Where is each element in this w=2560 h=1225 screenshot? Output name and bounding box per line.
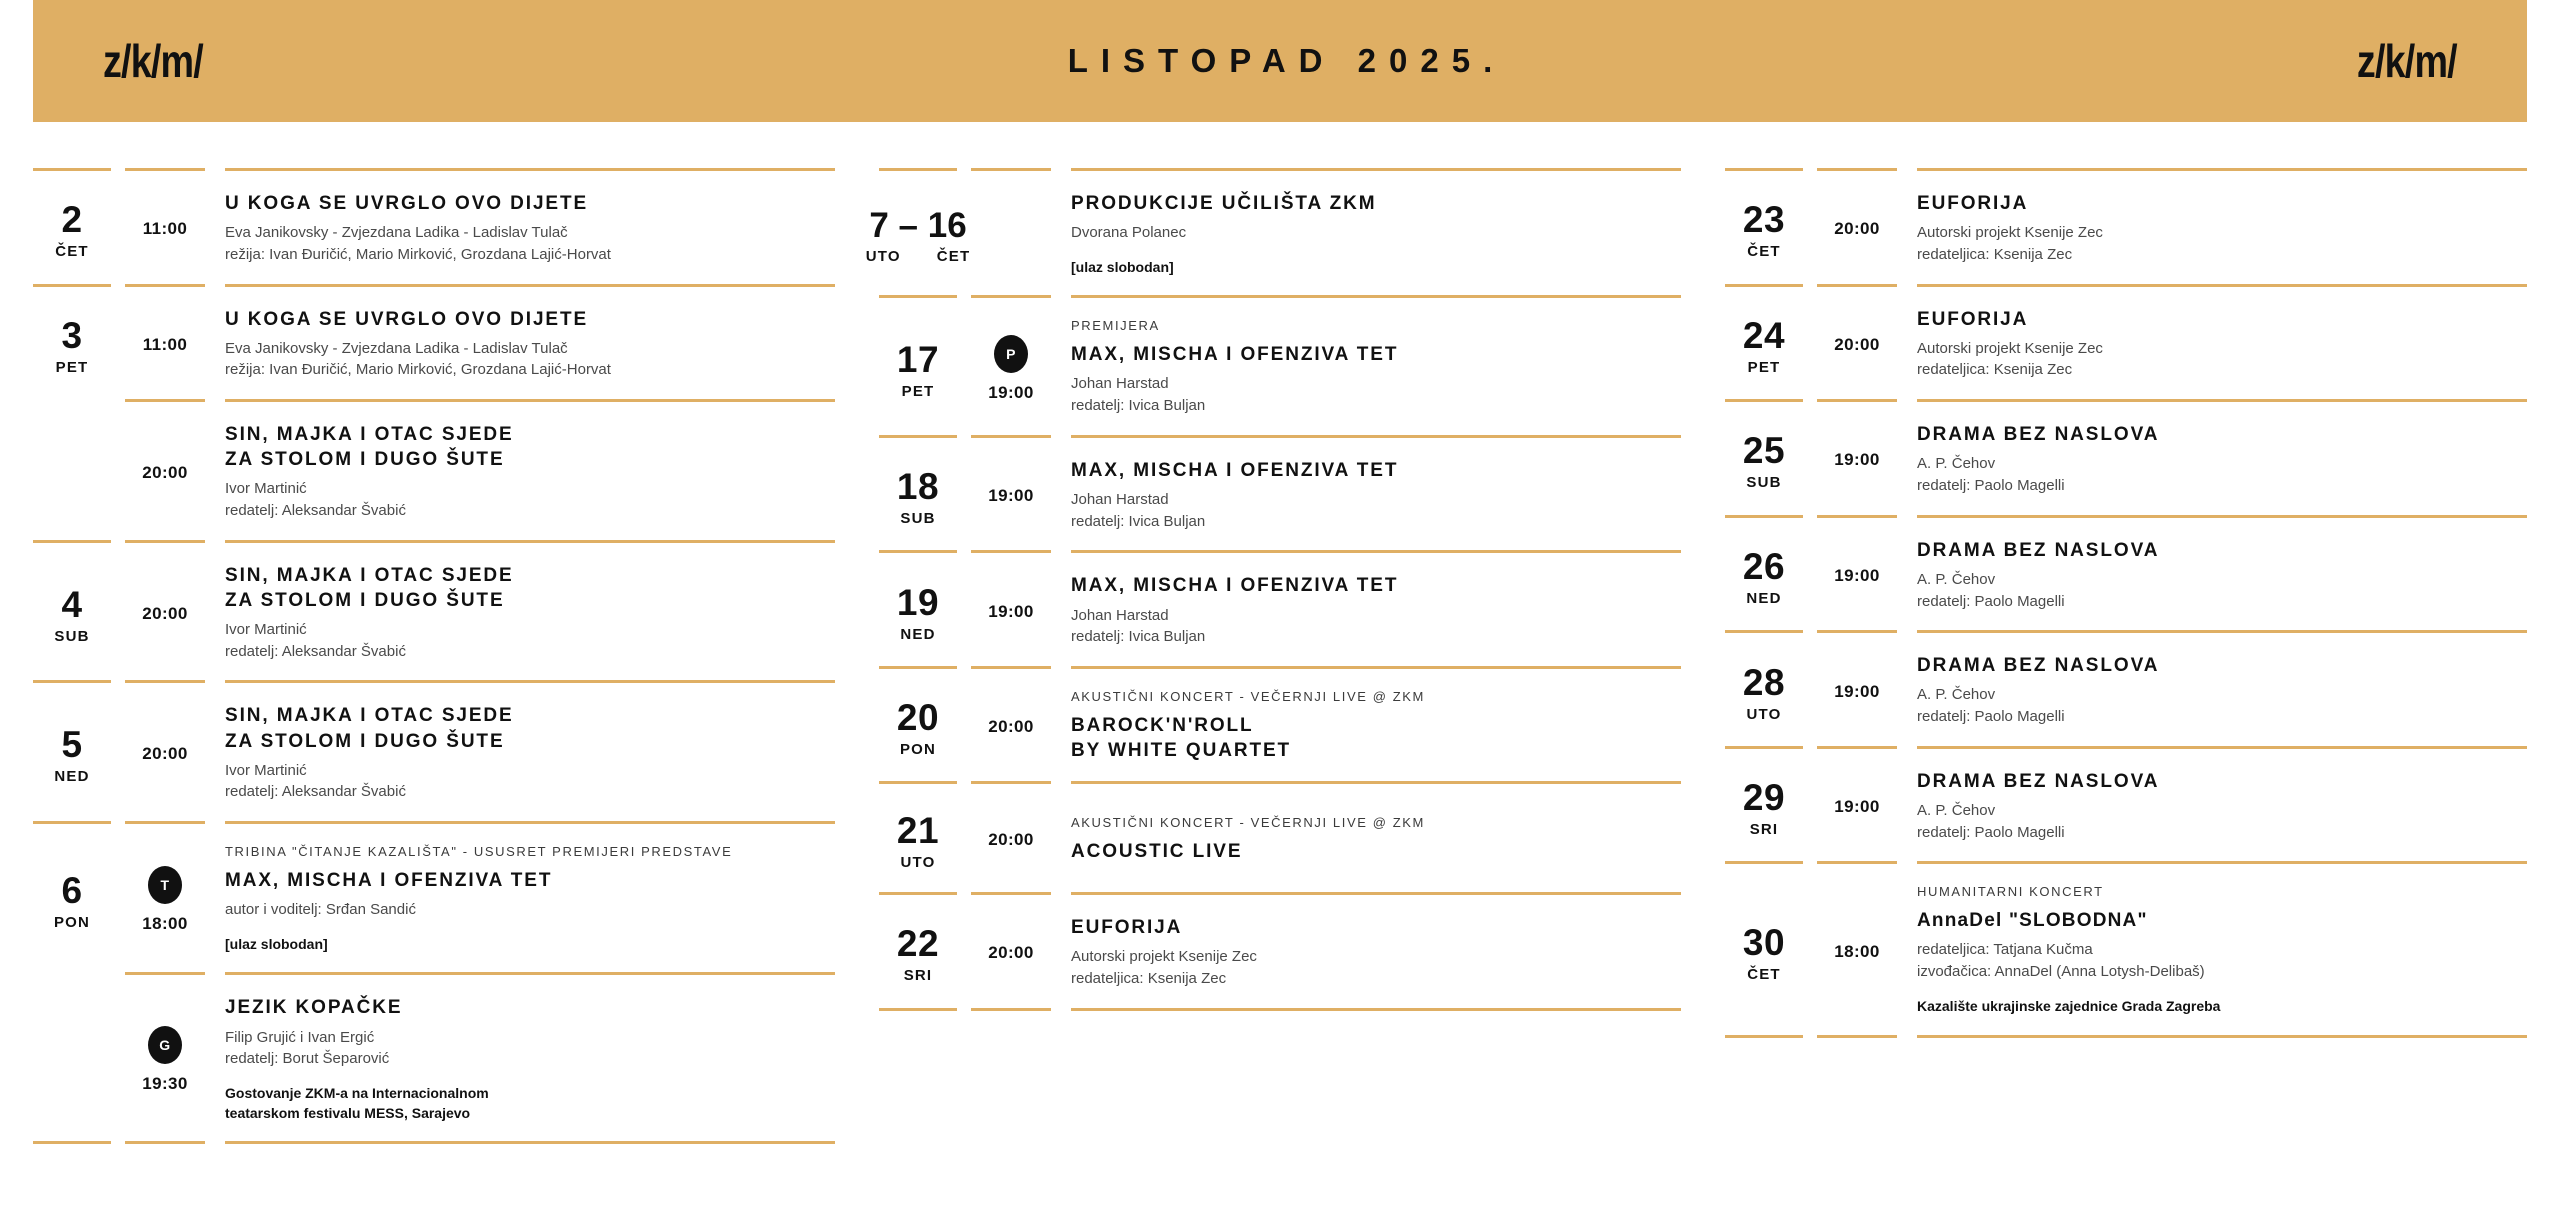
date-cell: 23ČET	[1725, 189, 1803, 266]
time-cell: 19:00	[1817, 767, 1897, 844]
day-group: 26NED19:00DRAMA BEZ NASLOVAA. P. Čehovre…	[1725, 518, 2527, 631]
date-number: 5	[61, 726, 82, 763]
date-cell: 5NED	[33, 701, 111, 803]
event-time: 19:00	[1834, 566, 1879, 586]
logo-zkm-left[interactable]: z/k/m/	[103, 38, 203, 84]
event-subtitle: Autorski projekt Ksenije Zecredateljica:…	[1917, 222, 2527, 266]
date-number: 24	[1743, 317, 1785, 354]
event-time: 20:00	[142, 604, 187, 624]
event-content: DRAMA BEZ NASLOVAA. P. Čehovredatelj: Pa…	[1917, 536, 2527, 613]
event-caption: HUMANITARNI KONCERT	[1917, 884, 2527, 901]
day-group: 4SUB20:00SIN, MAJKA I OTAC SJEDEZA STOLO…	[33, 543, 835, 681]
event-row[interactable]: 28UTO19:00DRAMA BEZ NASLOVAA. P. Čehovre…	[1725, 633, 2527, 746]
date-dow: ČET	[1747, 244, 1781, 259]
date-cell: 22SRI	[879, 913, 957, 990]
time-cell: 11:00	[125, 189, 205, 266]
event-content: HUMANITARNI KONCERTAnnaDel "SLOBODNA"red…	[1917, 882, 2527, 1016]
event-title: DRAMA BEZ NASLOVA	[1917, 538, 2527, 563]
date-number: 22	[897, 925, 939, 962]
date-dow: PET	[1748, 360, 1781, 375]
event-time: 20:00	[142, 744, 187, 764]
event-title: SIN, MAJKA I OTAC SJEDEZA STOLOM I DUGO …	[225, 422, 835, 472]
date-cell: 7 – 16UTOČET	[879, 189, 957, 277]
event-subtitle: A. P. Čehovredatelj: Paolo Magelli	[1917, 569, 2527, 613]
event-subtitle: A. P. Čehovredatelj: Paolo Magelli	[1917, 453, 2527, 497]
date-dow: NED	[54, 769, 89, 784]
divider-segment	[33, 399, 111, 402]
day-group: 25SUB19:00DRAMA BEZ NASLOVAA. P. Čehovre…	[1725, 402, 2527, 515]
event-badge-icon: T	[148, 866, 182, 904]
event-subtitle: A. P. Čehovredatelj: Paolo Magelli	[1917, 684, 2527, 728]
event-row[interactable]: 23ČET20:00EUFORIJAAutorski projekt Kseni…	[1725, 171, 2527, 284]
date-cell: 29SRI	[1725, 767, 1803, 844]
event-content: SIN, MAJKA I OTAC SJEDEZA STOLOM I DUGO …	[225, 701, 835, 803]
event-title: EUFORIJA	[1071, 915, 1681, 940]
event-subtitle: Johan Harstadredatelj: Ivica Buljan	[1071, 373, 1681, 417]
row-divider	[879, 1008, 1681, 1011]
date-cell: 25SUB	[1725, 420, 1803, 497]
date-cell: 20PON	[879, 687, 957, 763]
date-number: 29	[1743, 779, 1785, 816]
date-dow: NED	[1746, 591, 1781, 606]
event-content: AKUSTIČNI KONCERT - VEČERNJI LIVE @ ZKMB…	[1071, 687, 1681, 763]
event-title: DRAMA BEZ NASLOVA	[1917, 422, 2527, 447]
date-dow: SUB	[54, 629, 89, 644]
divider-segment	[879, 1008, 957, 1011]
time-cell: 20:00	[1817, 305, 1897, 382]
row-divider-sub	[33, 972, 835, 975]
date-number: 18	[897, 468, 939, 505]
date-number: 20	[897, 699, 939, 736]
event-row[interactable]: 17PETP19:00PREMIJERAMAX, MISCHA I OFENZI…	[879, 298, 1681, 434]
event-title: U KOGA SE UVRGLO OVO DIJETE	[225, 191, 835, 216]
event-caption: TRIBINA "ČITANJE KAZALIŠTA" - USUSRET PR…	[225, 844, 835, 861]
divider-segment	[1817, 1035, 1897, 1038]
date-number: 19	[897, 584, 939, 621]
event-title: AnnaDel "SLOBODNA"	[1917, 908, 2527, 933]
day-group: 3PET11:00U KOGA SE UVRGLO OVO DIJETEEva …	[33, 287, 835, 540]
event-note: Kazalište ukrajinske zajednice Grada Zag…	[1917, 997, 2527, 1017]
event-row[interactable]: 22SRI20:00EUFORIJAAutorski projekt Kseni…	[879, 895, 1681, 1008]
date-number: 26	[1743, 548, 1785, 585]
date-cell: 6PON	[33, 842, 111, 954]
date-dow: SUB	[900, 511, 935, 526]
event-subtitle: Autorski projekt Ksenije Zecredateljica:…	[1917, 338, 2527, 382]
event-badge-icon: G	[148, 1026, 182, 1064]
day-group: 7 – 16UTOČETPRODUKCIJE UČILIŠTA ZKMDvora…	[879, 171, 1681, 295]
date-number: 3	[61, 317, 82, 354]
event-title: ACOUSTIC LIVE	[1071, 839, 1681, 864]
event-time: 19:00	[988, 486, 1033, 506]
date-dow: UTO	[1747, 707, 1782, 722]
event-row[interactable]: 2ČET11:00U KOGA SE UVRGLO OVO DIJETEEva …	[33, 171, 835, 284]
day-group: 5NED20:00SIN, MAJKA I OTAC SJEDEZA STOLO…	[33, 683, 835, 821]
date-dow: ČET	[1747, 967, 1781, 982]
event-row[interactable]: 19NED19:00MAX, MISCHA I OFENZIVA TETJoha…	[879, 553, 1681, 666]
event-subtitle: Dvorana Polanec	[1071, 222, 1681, 244]
time-cell: 20:00	[1817, 189, 1897, 266]
event-caption: AKUSTIČNI KONCERT - VEČERNJI LIVE @ ZKM	[1071, 815, 1681, 832]
event-content: DRAMA BEZ NASLOVAA. P. Čehovredatelj: Pa…	[1917, 651, 2527, 728]
event-content: DRAMA BEZ NASLOVAA. P. Čehovredatelj: Pa…	[1917, 767, 2527, 844]
event-content: AKUSTIČNI KONCERT - VEČERNJI LIVE @ ZKMA…	[1071, 802, 1681, 874]
event-title: PRODUKCIJE UČILIŠTA ZKM	[1071, 191, 1681, 216]
event-content: TRIBINA "ČITANJE KAZALIŠTA" - USUSRET PR…	[225, 842, 835, 954]
time-cell: 20:00	[125, 561, 205, 663]
divider-segment	[125, 972, 205, 975]
event-title: DRAMA BEZ NASLOVA	[1917, 769, 2527, 794]
event-badge-icon: P	[994, 335, 1028, 373]
schedule-column-2: 7 – 16UTOČETPRODUKCIJE UČILIŠTA ZKMDvora…	[879, 168, 1681, 1011]
time-cell: P19:00	[971, 316, 1051, 416]
event-time: 11:00	[143, 335, 188, 355]
time-cell: 19:00	[1817, 651, 1897, 728]
event-content: EUFORIJAAutorski projekt Ksenije Zecreda…	[1917, 305, 2527, 382]
event-content: SIN, MAJKA I OTAC SJEDEZA STOLOM I DUGO …	[225, 561, 835, 663]
date-dow-pair: UTOČET	[866, 249, 971, 264]
date-cell: 28UTO	[1725, 651, 1803, 728]
event-subtitle: Johan Harstadredatelj: Ivica Buljan	[1071, 489, 1681, 533]
time-cell: 20:00	[971, 687, 1051, 763]
day-group: 23ČET20:00EUFORIJAAutorski projekt Kseni…	[1725, 171, 2527, 284]
event-time: 19:30	[142, 1074, 187, 1094]
date-dow: PON	[900, 742, 936, 757]
event-row[interactable]: 24PET20:00EUFORIJAAutorski projekt Kseni…	[1725, 287, 2527, 400]
event-note: Gostovanje ZKM-a na Internacionalnomteat…	[225, 1084, 835, 1123]
event-content: U KOGA SE UVRGLO OVO DIJETEEva Janikovsk…	[225, 189, 835, 266]
schedule-column-1: 2ČET11:00U KOGA SE UVRGLO OVO DIJETEEva …	[33, 168, 835, 1144]
event-note: [ulaz slobodan]	[1071, 258, 1681, 278]
date-cell: 17PET	[879, 316, 957, 416]
event-subtitle: Filip Grujić i Ivan Ergićredatelj: Borut…	[225, 1027, 835, 1071]
date-dow: PON	[54, 915, 90, 930]
event-content: MAX, MISCHA I OFENZIVA TETJohan Harstadr…	[1071, 456, 1681, 533]
event-time: 20:00	[988, 943, 1033, 963]
event-row[interactable]: 6PONT18:00TRIBINA "ČITANJE KAZALIŠTA" - …	[33, 824, 835, 972]
page-title: LISTOPAD 2025.	[1055, 42, 1506, 80]
event-row[interactable]: 20PON20:00AKUSTIČNI KONCERT - VEČERNJI L…	[879, 669, 1681, 781]
time-cell	[971, 189, 1051, 277]
event-row[interactable]: 6PONG19:30JEZIK KOPAČKEFilip Grujić i Iv…	[33, 975, 835, 1141]
date-number: 17	[897, 341, 939, 378]
day-group: 2ČET11:00U KOGA SE UVRGLO OVO DIJETEEva …	[33, 171, 835, 284]
event-subtitle: Eva Janikovsky - Zvjezdana Ladika - Ladi…	[225, 222, 835, 266]
row-divider	[33, 1141, 835, 1144]
day-group: 17PETP19:00PREMIJERAMAX, MISCHA I OFENZI…	[879, 298, 1681, 434]
event-note: [ulaz slobodan]	[225, 935, 835, 955]
event-content: PRODUKCIJE UČILIŠTA ZKMDvorana Polanec[u…	[1071, 189, 1681, 277]
time-cell: 11:00	[125, 305, 205, 382]
event-time: 19:00	[988, 602, 1033, 622]
event-subtitle: Eva Janikovsky - Zvjezdana Ladika - Ladi…	[225, 338, 835, 382]
day-group: 28UTO19:00DRAMA BEZ NASLOVAA. P. Čehovre…	[1725, 633, 2527, 746]
date-number: 28	[1743, 664, 1785, 701]
date-number: 25	[1743, 432, 1785, 469]
event-title: EUFORIJA	[1917, 191, 2527, 216]
event-row[interactable]: 26NED19:00DRAMA BEZ NASLOVAA. P. Čehovre…	[1725, 518, 2527, 631]
event-time: 20:00	[988, 830, 1033, 850]
time-cell: 19:00	[971, 456, 1051, 533]
divider-segment	[225, 1141, 835, 1144]
event-title: MAX, MISCHA I OFENZIVA TET	[1071, 342, 1681, 367]
day-group: 20PON20:00AKUSTIČNI KONCERT - VEČERNJI L…	[879, 669, 1681, 781]
divider-segment	[225, 399, 835, 402]
day-group: 30ČET18:00HUMANITARNI KONCERTAnnaDel "SL…	[1725, 864, 2527, 1034]
event-content: EUFORIJAAutorski projekt Ksenije Zecreda…	[1917, 189, 2527, 266]
event-row[interactable]: 3PET11:00U KOGA SE UVRGLO OVO DIJETEEva …	[33, 287, 835, 400]
event-content: U KOGA SE UVRGLO OVO DIJETEEva Janikovsk…	[225, 305, 835, 382]
date-dow: UTO	[866, 249, 901, 264]
event-title: SIN, MAJKA I OTAC SJEDEZA STOLOM I DUGO …	[225, 563, 835, 613]
event-subtitle: Ivor Martinićredatelj: Aleksandar Švabić	[225, 760, 835, 804]
date-dow: SRI	[1750, 822, 1779, 837]
event-row[interactable]: 4SUB20:00SIN, MAJKA I OTAC SJEDEZA STOLO…	[33, 543, 835, 681]
time-cell: 19:00	[1817, 536, 1897, 613]
divider-segment	[33, 972, 111, 975]
date-dow: ČET	[55, 244, 89, 259]
time-cell: 20:00	[971, 913, 1051, 990]
event-subtitle: Ivor Martinićredatelj: Aleksandar Švabić	[225, 478, 835, 522]
date-number: 23	[1743, 201, 1785, 238]
divider-segment	[1725, 1035, 1803, 1038]
event-time: 20:00	[988, 717, 1033, 737]
time-cell: 20:00	[971, 802, 1051, 874]
event-row[interactable]: 29SRI19:00DRAMA BEZ NASLOVAA. P. Čehovre…	[1725, 749, 2527, 862]
event-content: SIN, MAJKA I OTAC SJEDEZA STOLOM I DUGO …	[225, 420, 835, 522]
day-group: 22SRI20:00EUFORIJAAutorski projekt Kseni…	[879, 895, 1681, 1008]
day-group: 21UTO20:00AKUSTIČNI KONCERT - VEČERNJI L…	[879, 784, 1681, 892]
time-cell: G19:30	[125, 993, 205, 1123]
event-content: EUFORIJAAutorski projekt Ksenije Zecreda…	[1071, 913, 1681, 990]
event-subtitle: A. P. Čehovredatelj: Paolo Magelli	[1917, 800, 2527, 844]
day-group: 24PET20:00EUFORIJAAutorski projekt Kseni…	[1725, 287, 2527, 400]
event-title: MAX, MISCHA I OFENZIVA TET	[1071, 573, 1681, 598]
date-cell: 18SUB	[879, 456, 957, 533]
schedule-column-3: 23ČET20:00EUFORIJAAutorski projekt Kseni…	[1725, 168, 2527, 1038]
day-group: 29SRI19:00DRAMA BEZ NASLOVAA. P. Čehovre…	[1725, 749, 2527, 862]
divider-segment	[125, 1141, 205, 1144]
event-row[interactable]: 25SUB19:00DRAMA BEZ NASLOVAA. P. Čehovre…	[1725, 402, 2527, 515]
schedule-columns: 2ČET11:00U KOGA SE UVRGLO OVO DIJETEEva …	[0, 168, 2560, 1144]
date-dow: UTO	[901, 855, 936, 870]
date-number: 4	[61, 586, 82, 623]
event-time: 19:00	[1834, 797, 1879, 817]
day-group: 18SUB19:00MAX, MISCHA I OFENZIVA TETJoha…	[879, 438, 1681, 551]
time-cell: 19:00	[1817, 420, 1897, 497]
time-cell: 20:00	[125, 420, 205, 522]
event-time: 19:00	[988, 383, 1033, 403]
event-row[interactable]: 30ČET18:00HUMANITARNI KONCERTAnnaDel "SL…	[1725, 864, 2527, 1034]
event-content: MAX, MISCHA I OFENZIVA TETJohan Harstadr…	[1071, 571, 1681, 648]
divider-segment	[225, 972, 835, 975]
date-dow: SRI	[904, 968, 933, 983]
day-group: 19NED19:00MAX, MISCHA I OFENZIVA TETJoha…	[879, 553, 1681, 666]
divider-segment	[971, 1008, 1051, 1011]
event-row[interactable]: 5NED20:00SIN, MAJKA I OTAC SJEDEZA STOLO…	[33, 683, 835, 821]
event-content: JEZIK KOPAČKEFilip Grujić i Ivan Ergićre…	[225, 993, 835, 1123]
event-time: 20:00	[1834, 219, 1879, 239]
event-row[interactable]: 18SUB19:00MAX, MISCHA I OFENZIVA TETJoha…	[879, 438, 1681, 551]
event-time: 18:00	[1834, 942, 1879, 962]
event-subtitle: redateljica: Tatjana Kučmaizvođačica: An…	[1917, 939, 2527, 983]
event-caption: AKUSTIČNI KONCERT - VEČERNJI LIVE @ ZKM	[1071, 689, 1681, 706]
date-cell: 30ČET	[1725, 882, 1803, 1016]
date-cell: 26NED	[1725, 536, 1803, 613]
divider-segment	[1917, 1035, 2527, 1038]
event-content: PREMIJERAMAX, MISCHA I OFENZIVA TETJohan…	[1071, 316, 1681, 416]
date-dow: ČET	[937, 249, 971, 264]
event-subtitle: Ivor Martinićredatelj: Aleksandar Švabić	[225, 619, 835, 663]
event-title: DRAMA BEZ NASLOVA	[1917, 653, 2527, 678]
event-row[interactable]: 21UTO20:00AKUSTIČNI KONCERT - VEČERNJI L…	[879, 784, 1681, 892]
time-cell: 18:00	[1817, 882, 1897, 1016]
row-divider	[1725, 1035, 2527, 1038]
event-title: SIN, MAJKA I OTAC SJEDEZA STOLOM I DUGO …	[225, 703, 835, 753]
divider-segment	[33, 1141, 111, 1144]
event-time: 11:00	[143, 219, 188, 239]
date-number: 21	[897, 812, 939, 849]
row-divider-sub	[33, 399, 835, 402]
header-band: z/k/m/ LISTOPAD 2025. z/k/m/	[33, 0, 2527, 122]
event-content: DRAMA BEZ NASLOVAA. P. Čehovredatelj: Pa…	[1917, 420, 2527, 497]
date-dow: NED	[900, 627, 935, 642]
date-number: 7 – 16	[869, 208, 966, 243]
date-cell: 2ČET	[33, 189, 111, 266]
time-cell: T18:00	[125, 842, 205, 954]
date-cell: 24PET	[1725, 305, 1803, 382]
date-number: 2	[61, 201, 82, 238]
event-title: EUFORIJA	[1917, 307, 2527, 332]
event-row[interactable]: 7 – 16UTOČETPRODUKCIJE UČILIŠTA ZKMDvora…	[879, 171, 1681, 295]
date-cell: 19NED	[879, 571, 957, 648]
event-time: 20:00	[1834, 335, 1879, 355]
divider-segment	[125, 399, 205, 402]
date-number: 6	[61, 872, 82, 909]
date-cell: 21UTO	[879, 802, 957, 874]
day-group: 6PONT18:00TRIBINA "ČITANJE KAZALIŠTA" - …	[33, 824, 835, 1141]
event-title: BAROCK'N'ROLLBY WHITE QUARTET	[1071, 713, 1681, 763]
event-subtitle: autor i voditelj: Srđan Sandić	[225, 899, 835, 921]
event-title: JEZIK KOPAČKE	[225, 995, 835, 1020]
event-title: MAX, MISCHA I OFENZIVA TET	[225, 868, 835, 893]
logo-zkm-right[interactable]: z/k/m/	[2357, 38, 2457, 84]
event-time: 18:00	[142, 914, 187, 934]
event-time: 19:00	[1834, 682, 1879, 702]
event-subtitle: Johan Harstadredatelj: Ivica Buljan	[1071, 605, 1681, 649]
event-time: 20:00	[142, 463, 187, 483]
event-title: MAX, MISCHA I OFENZIVA TET	[1071, 458, 1681, 483]
divider-segment	[1071, 1008, 1681, 1011]
event-caption: PREMIJERA	[1071, 318, 1681, 335]
date-dow: SUB	[1746, 475, 1781, 490]
date-cell: 4SUB	[33, 561, 111, 663]
date-dow: PET	[902, 384, 935, 399]
event-title: U KOGA SE UVRGLO OVO DIJETE	[225, 307, 835, 332]
time-cell: 20:00	[125, 701, 205, 803]
date-number: 30	[1743, 924, 1785, 961]
date-dow: PET	[56, 360, 89, 375]
event-row[interactable]: 3PET20:00SIN, MAJKA I OTAC SJEDEZA STOLO…	[33, 402, 835, 540]
event-time: 19:00	[1834, 450, 1879, 470]
event-subtitle: Autorski projekt Ksenije Zecredateljica:…	[1071, 946, 1681, 990]
time-cell: 19:00	[971, 571, 1051, 648]
date-cell: 3PET	[33, 305, 111, 382]
